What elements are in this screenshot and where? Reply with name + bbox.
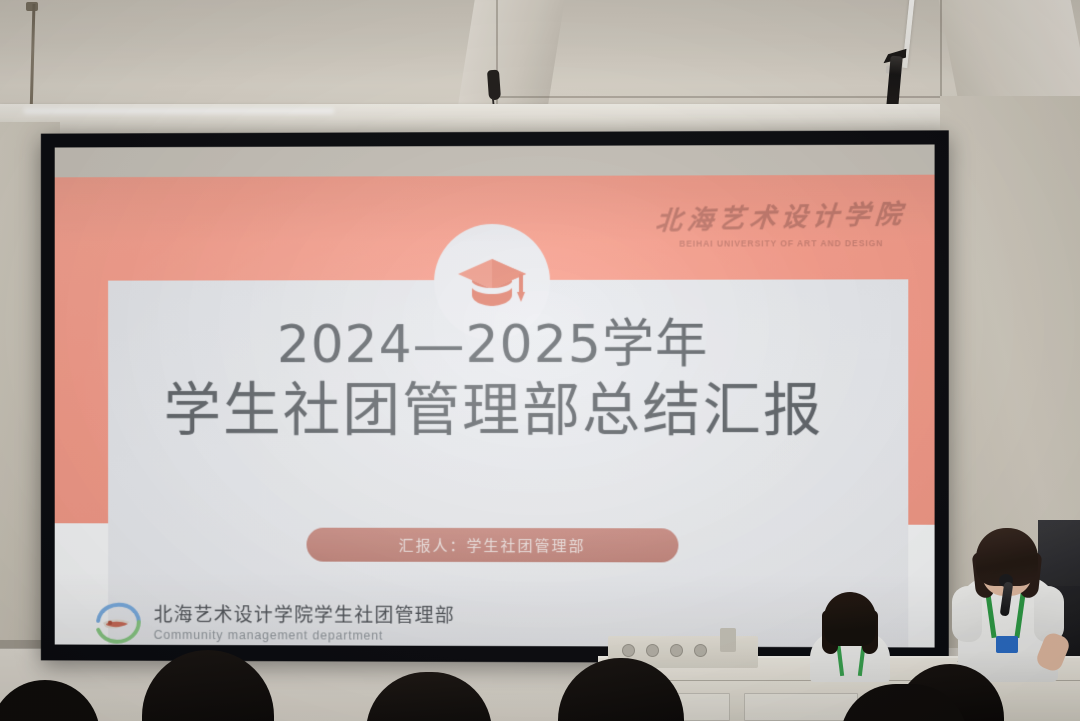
screen-surface: 北海艺术设计学院 BEIHAI UNIVERSITY OF ART AND DE… xyxy=(55,144,935,647)
university-logo: 北海艺术设计学院 BEIHAI UNIVERSITY OF ART AND DE… xyxy=(656,197,906,249)
roller-highlight xyxy=(24,108,334,114)
presentation-slide: 北海艺术设计学院 BEIHAI UNIVERSITY OF ART AND DE… xyxy=(55,175,935,648)
lecture-hall-scene: 北海艺术设计学院 BEIHAI UNIVERSITY OF ART AND DE… xyxy=(0,0,1080,721)
desk-drawer[interactable] xyxy=(744,693,858,721)
slide-title-block: 2024—2025学年 学生社团管理部总结汇报 xyxy=(55,316,935,445)
console-knob[interactable] xyxy=(694,644,707,657)
projection-screen: 北海艺术设计学院 BEIHAI UNIVERSITY OF ART AND DE… xyxy=(41,130,949,663)
ceiling-beam-center xyxy=(457,0,564,110)
university-logo-cn: 北海艺术设计学院 xyxy=(655,194,908,238)
community-swirl-logo-icon xyxy=(94,601,142,645)
slide-footer-text: 北海艺术设计学院学生社团管理部 Community management dep… xyxy=(154,604,455,643)
console-knob[interactable] xyxy=(670,644,683,657)
ceiling-beam-right xyxy=(939,0,1080,96)
university-logo-en: BEIHAI UNIVERSITY OF ART AND DESIGN xyxy=(656,238,906,249)
standing-presenter xyxy=(952,512,1064,682)
graduation-cap-icon xyxy=(455,255,529,309)
console-riser xyxy=(720,628,736,652)
console-knob[interactable] xyxy=(622,644,635,657)
ceiling-handset-icon xyxy=(487,70,501,101)
ceiling-seam-right xyxy=(940,0,942,96)
slide-footer-en: Community management department xyxy=(154,628,455,643)
presenter-badge xyxy=(996,636,1018,653)
presenter-pill: 汇报人：学生社团管理部 xyxy=(307,528,679,563)
seated-person xyxy=(806,588,894,678)
slide-footer-cn: 北海艺术设计学院学生社团管理部 xyxy=(154,604,455,628)
console-knob[interactable] xyxy=(646,644,659,657)
seated-person-hair xyxy=(824,592,876,646)
slide-title-line2: 学生社团管理部总结汇报 xyxy=(55,376,935,445)
slide-footer: 北海艺术设计学院学生社团管理部 Community management dep… xyxy=(94,601,455,646)
slide-title-line1: 2024—2025学年 xyxy=(55,316,935,375)
